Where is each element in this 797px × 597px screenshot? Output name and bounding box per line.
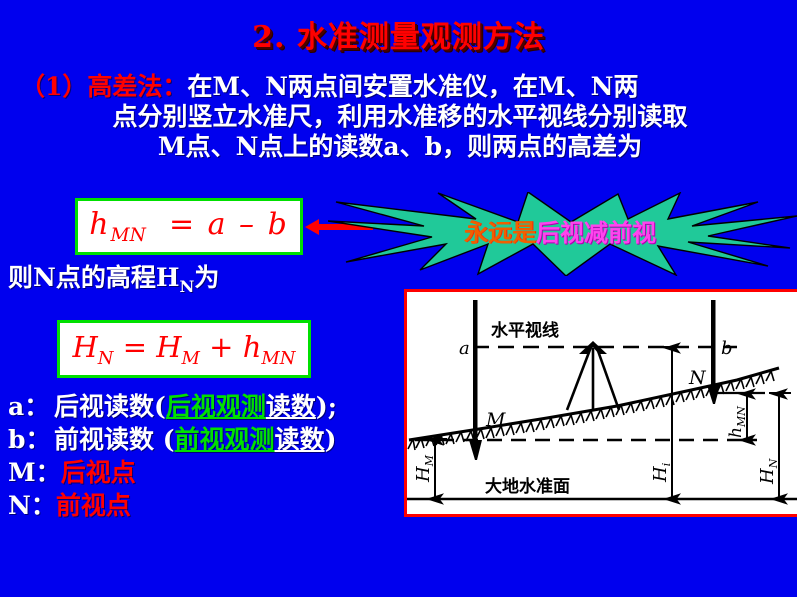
label-Hi: Hi (650, 463, 673, 483)
legend-a-green: 后视观测 (166, 392, 266, 421)
legend-n-value: 前视点 (56, 491, 131, 520)
legend-a-plain2: ); (316, 392, 337, 421)
label-a: a (459, 338, 470, 359)
body-paragraph: （1）高差法：在M、N两点间安置水准仪，在M、N两 点分别竖立水准尺，利用水准移… (20, 72, 780, 162)
svg-text:hMN: hMN (726, 406, 748, 438)
label-datum: 大地水准面 (485, 476, 570, 497)
formula2-part3-subscript: MN (261, 347, 295, 368)
formula2-plus: + (209, 330, 233, 364)
label-N: N (688, 367, 707, 389)
legend-item-a: a：后视读数(后视观测读数); (8, 390, 408, 423)
legend-key-b: b： (8, 423, 54, 456)
staff-M-foot (469, 440, 482, 460)
legend-item-b: b：前视读数 (前视观测读数) (8, 423, 408, 456)
leveling-survey-diagram: 水平视线 大地水准面 a b M N HM Hi hMN HN (404, 289, 797, 517)
callout-starburst-shape (328, 192, 797, 276)
paragraph-line-2: 点分别竖立水准尺，利用水准移的水平视线分别读取 (20, 102, 780, 132)
formula1-lhs-subscript: MN (111, 225, 146, 246)
formula1-lhs: h (89, 207, 110, 242)
legend-b-plain2: ) (325, 425, 337, 454)
legend-b-green: 前视观测 (175, 425, 275, 454)
legend-b-underline: 读数 (275, 425, 325, 454)
elevation-intro-suffix: 为 (194, 263, 219, 292)
elevation-intro-subscript: N (179, 277, 194, 296)
formula2-part2: H (156, 330, 181, 364)
legend-key-a: a： (8, 390, 54, 423)
svg-text:Hi: Hi (650, 463, 673, 483)
staff-N-foot (707, 385, 720, 404)
formula2-part2-subscript: M (182, 347, 200, 368)
elevation-intro-prefix: 则N点的高程H (8, 263, 179, 292)
staff-N (711, 300, 716, 385)
label-HN: HN (757, 458, 780, 485)
paragraph-marker: （1）高差法： (20, 72, 187, 101)
legend-key-m: M： (8, 456, 61, 489)
legend-item-m: M：后视点 (8, 456, 408, 489)
label-hMN: hMN (726, 406, 748, 438)
formula2-equals: = (123, 330, 147, 364)
formula2-part3: h (243, 330, 262, 364)
label-sight-line: 水平视线 (491, 320, 559, 341)
svg-text:HM: HM (413, 454, 436, 483)
page-title: 2. 水准测量观测方法 (0, 12, 797, 56)
level-instrument (567, 341, 619, 410)
legend-a-plain1: 后视读数( (54, 392, 166, 421)
formula-box-height-difference: hMN = a – b (75, 198, 303, 255)
legend-item-n: N：前视点 (8, 489, 408, 522)
slide-canvas: 2. 水准测量观测方法 （1）高差法：在M、N两点间安置水准仪，在M、N两 点分… (0, 0, 797, 597)
legend-key-n: N： (8, 489, 56, 522)
paragraph-line-3: M点、N点上的读数a、b，则两点的高差为 (20, 132, 780, 162)
label-b: b (721, 338, 733, 359)
label-M: M (485, 409, 506, 431)
formula1-rhs: = a – b (169, 207, 289, 242)
formula2-part1-subscript: N (98, 347, 114, 368)
formula-box-elevation: HN = HM + hMN (57, 320, 311, 378)
legend-b-plain1: 前视读数 ( (54, 425, 175, 454)
diagram-svg: 水平视线 大地水准面 a b M N HM Hi hMN HN (407, 292, 797, 514)
formula2-part1: H (72, 330, 97, 364)
legend-m-value: 后视点 (61, 458, 136, 487)
paragraph-line-1: 在M、N两点间安置水准仪，在M、N两 (187, 72, 638, 101)
legend-a-underline: 读数 (266, 392, 316, 421)
label-HM: HM (413, 454, 436, 483)
staff-M (473, 300, 478, 440)
elevation-intro-line: 则N点的高程HN为 (8, 258, 219, 296)
svg-text:HN: HN (757, 458, 780, 485)
legend-list: a：后视读数(后视观测读数); b：前视读数 (前视观测读数) M：后视点 N：… (8, 390, 408, 522)
